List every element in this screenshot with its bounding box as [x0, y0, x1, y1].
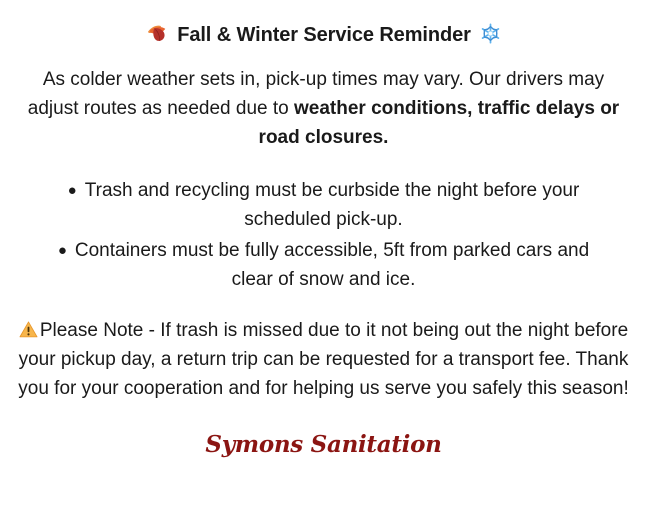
intro-text-bold: weather conditions, traffic delays or ro… — [259, 98, 620, 148]
page-title: Fall & Winter Service Reminder — [8, 22, 639, 48]
bullet-marker-icon: ● — [68, 182, 77, 199]
snowflake-icon — [480, 23, 501, 48]
please-note-text: Please Note - If trash is missed due to … — [18, 320, 628, 399]
intro-paragraph: As colder weather sets in, pick-up times… — [8, 65, 639, 152]
fallen-leaf-icon — [146, 22, 168, 48]
company-signature: Symons Sanitation — [8, 431, 639, 458]
list-item-text: Trash and recycling must be curbside the… — [85, 180, 580, 230]
warning-triangle-icon — [19, 320, 40, 340]
bullet-marker-icon: ● — [58, 242, 67, 259]
requirements-list: ●Trash and recycling must be curbside th… — [8, 176, 639, 294]
please-note-paragraph: Please Note - If trash is missed due to … — [8, 316, 639, 403]
list-item: ●Trash and recycling must be curbside th… — [36, 176, 611, 234]
service-reminder-notice: Fall & Winter Service Reminder — [0, 22, 647, 458]
page-title-text: Fall & Winter Service Reminder — [177, 23, 471, 47]
list-item: ●Containers must be fully accessible, 5f… — [36, 236, 611, 294]
list-item-text: Containers must be fully accessible, 5ft… — [75, 240, 589, 290]
